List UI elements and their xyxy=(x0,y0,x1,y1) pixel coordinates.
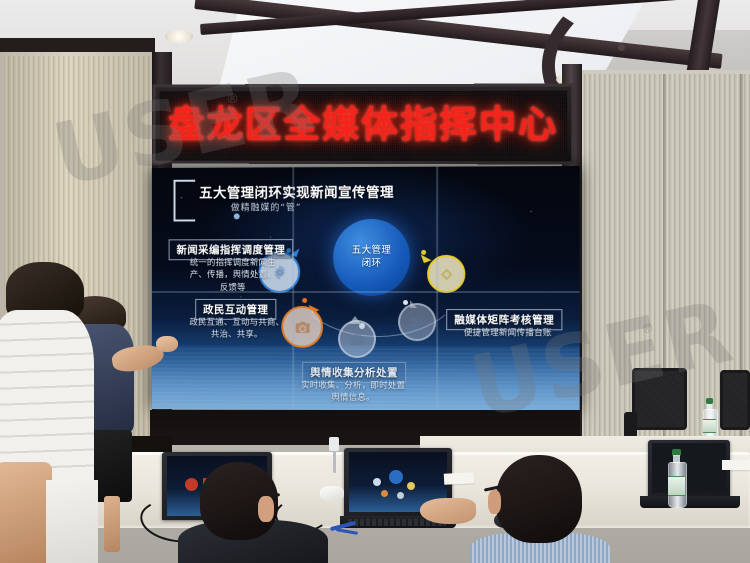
briefcase-icon xyxy=(350,331,365,346)
led-banner-text: 盘龙区全媒体指挥中心 xyxy=(168,105,558,142)
node-opinion-collection[interactable] xyxy=(338,320,376,358)
person-leg xyxy=(104,496,120,552)
person-hand-pointing xyxy=(156,336,178,352)
desc-matrix-assessment: 便捷管理新闻传播台账 xyxy=(452,327,563,340)
laptop-lid xyxy=(648,440,730,500)
diamond-icon xyxy=(439,266,454,281)
mini-node xyxy=(397,492,404,499)
send-icon xyxy=(410,315,425,330)
person-lower-shirt xyxy=(46,480,98,563)
bottle-label xyxy=(668,476,685,496)
node-citizen-interaction[interactable] xyxy=(281,306,323,348)
downlight xyxy=(165,30,193,43)
tissue xyxy=(320,486,344,501)
video-wall[interactable]: 五大管理闭环实现新闻宣传管理 做精融媒的“管” 五大管理 闭环 xyxy=(152,166,580,411)
core-label-line2: 闭环 xyxy=(362,257,382,270)
desc-news-dispatch: 统一的指挥调度新闻生产、传播，舆情处置、反馈等 xyxy=(187,257,278,294)
laptop-screen xyxy=(652,443,726,493)
slide-subtitle: 做精融媒的“管” xyxy=(231,200,302,213)
desc-citizen-interaction: 政民互通、互动与共商、共治、共享。 xyxy=(187,317,286,342)
led-banner-screen: 盘龙区全媒体指挥中心 xyxy=(159,91,567,158)
person-head xyxy=(496,455,582,543)
camera-icon xyxy=(294,318,311,335)
mini-node xyxy=(381,490,388,497)
core-circle: 五大管理 闭环 xyxy=(333,219,410,296)
subtitle-dot-icon xyxy=(234,213,240,219)
slide-thumbnail xyxy=(185,478,198,491)
paper-sheet xyxy=(444,472,475,485)
title-bracket-icon xyxy=(174,180,196,222)
mini-node xyxy=(373,478,381,486)
chair-armrest xyxy=(624,412,637,438)
person-arm xyxy=(0,462,52,563)
chair-backrest xyxy=(632,368,687,430)
mic-head xyxy=(329,437,339,451)
slide-title: 五大管理闭环实现新闻宣传管理 xyxy=(199,181,394,202)
core-label-line1: 五大管理 xyxy=(352,245,392,258)
desc-opinion-collection: 实时收集、分析，即时处置舆情信息。 xyxy=(298,380,408,405)
paper-sheet xyxy=(722,460,750,470)
control-room-scene: 盘龙区全媒体指挥中心 五大管理闭环实现新闻宣传管理 做精融媒的“管” 五大管理 … xyxy=(0,0,750,563)
bottle-label xyxy=(703,419,716,433)
led-banner: 盘龙区全媒体指挥中心 xyxy=(153,84,575,165)
mini-core-circle xyxy=(389,470,403,484)
chair-backrest xyxy=(720,370,750,430)
person-ear xyxy=(488,490,501,514)
person-ear xyxy=(258,496,274,522)
mini-node xyxy=(407,482,415,490)
laptop-base xyxy=(640,496,740,508)
node-matrix-assessment[interactable] xyxy=(427,255,465,293)
presentation-slide: 五大管理闭环实现新闻宣传管理 做精融媒的“管” 五大管理 闭环 xyxy=(152,166,580,411)
node-extra[interactable] xyxy=(398,303,436,341)
ceiling-sensor xyxy=(618,44,625,51)
person-hand xyxy=(420,498,476,524)
orbit-dot xyxy=(302,298,307,303)
